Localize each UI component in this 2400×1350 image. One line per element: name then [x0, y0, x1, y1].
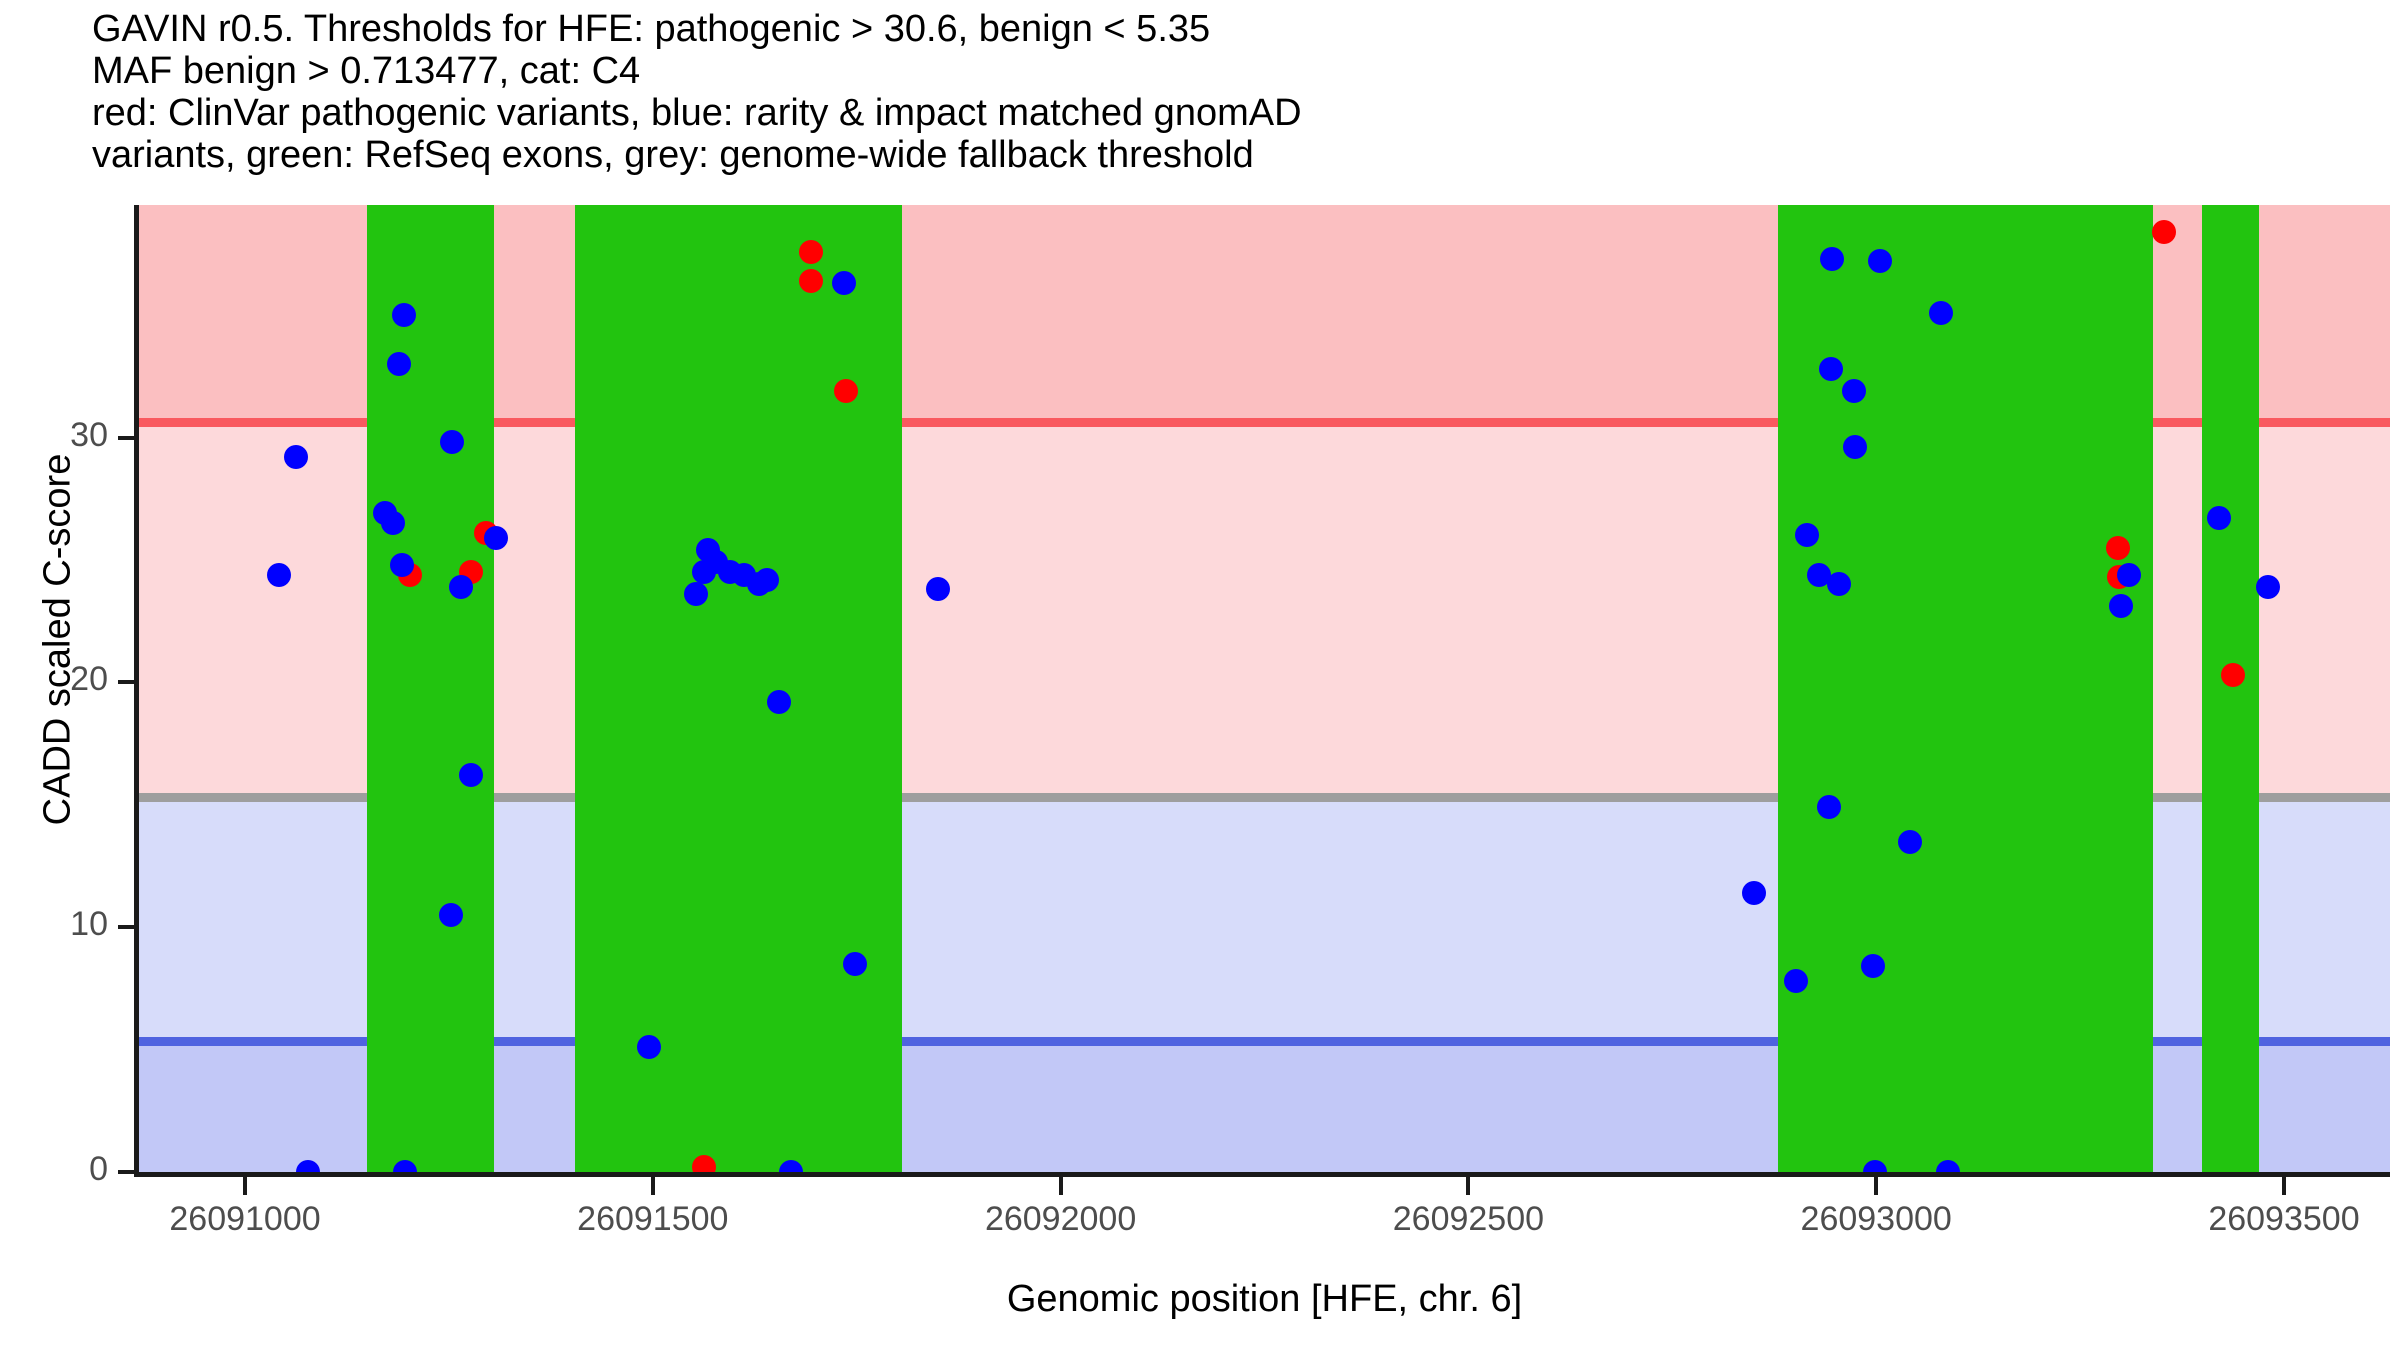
x-axis-tick-label: 26091500: [503, 1200, 803, 1239]
pathogenic-variant-point: [2221, 663, 2245, 687]
chart-root: GAVIN r0.5. Thresholds for HFE: pathogen…: [0, 0, 2400, 1350]
y-axis-tick: [118, 1170, 136, 1174]
x-axis-title: Genomic position [HFE, chr. 6]: [139, 1278, 2390, 1321]
gnomad-variant-point: [484, 526, 508, 550]
gnomad-variant-point: [449, 575, 473, 599]
gnomad-variant-point: [755, 568, 779, 592]
x-axis-tick: [2282, 1177, 2286, 1195]
gnomad-variant-point: [1898, 830, 1922, 854]
gnomad-variant-point: [267, 563, 291, 587]
x-axis-tick-label: 26092000: [911, 1200, 1211, 1239]
title-line-1: GAVIN r0.5. Thresholds for HFE: pathogen…: [92, 8, 2372, 50]
y-axis-title: CADD scaled C-score: [37, 340, 80, 940]
chart-title-block: GAVIN r0.5. Thresholds for HFE: pathogen…: [92, 8, 2372, 176]
x-axis-tick-label: 26093000: [1726, 1200, 2026, 1239]
gnomad-variant-point: [637, 1035, 661, 1059]
y-axis-tick: [118, 925, 136, 929]
x-axis-tick: [1466, 1177, 1470, 1195]
y-axis-tick: [118, 436, 136, 440]
y-axis-tick-label: 0: [0, 1150, 108, 1189]
pathogenic-variant-point: [799, 240, 823, 264]
x-axis-tick-label: 26093500: [2134, 1200, 2400, 1239]
plot-panel: [139, 205, 2390, 1172]
y-axis-line: [134, 205, 139, 1172]
pathogenic-variant-point: [834, 379, 858, 403]
x-axis-tick-label: 26092500: [1318, 1200, 1618, 1239]
pathogenic-variant-point: [2152, 220, 2176, 244]
gnomad-variant-point: [843, 952, 867, 976]
gnomad-variant-point: [767, 690, 791, 714]
title-line-4: variants, green: RefSeq exons, grey: gen…: [92, 134, 2372, 176]
gnomad-variant-point: [390, 553, 414, 577]
pathogenic-variant-point: [799, 269, 823, 293]
gnomad-variant-point: [2117, 563, 2141, 587]
x-axis-tick: [1059, 1177, 1063, 1195]
y-axis-tick: [118, 680, 136, 684]
x-axis-tick: [651, 1177, 655, 1195]
pathogenic-variant-point: [2106, 536, 2130, 560]
exon-region: [367, 205, 493, 1172]
gnomad-variant-point: [2256, 575, 2280, 599]
gnomad-variant-point: [1820, 247, 1844, 271]
exon-region: [575, 205, 901, 1172]
gnomad-variant-point: [1817, 795, 1841, 819]
gnomad-variant-point: [2207, 506, 2231, 530]
x-axis-tick: [243, 1177, 247, 1195]
exon-region: [2202, 205, 2259, 1172]
exon-region: [1778, 205, 2153, 1172]
gnomad-variant-point: [1742, 881, 1766, 905]
pathogenic-variant-point: [692, 1155, 716, 1172]
gnomad-variant-point: [1929, 301, 1953, 325]
x-axis-tick-label: 26091000: [95, 1200, 395, 1239]
x-axis-tick: [1874, 1177, 1878, 1195]
title-line-3: red: ClinVar pathogenic variants, blue: …: [92, 92, 2372, 134]
x-axis-line: [134, 1172, 2390, 1177]
title-line-2: MAF benign > 0.713477, cat: C4: [92, 50, 2372, 92]
